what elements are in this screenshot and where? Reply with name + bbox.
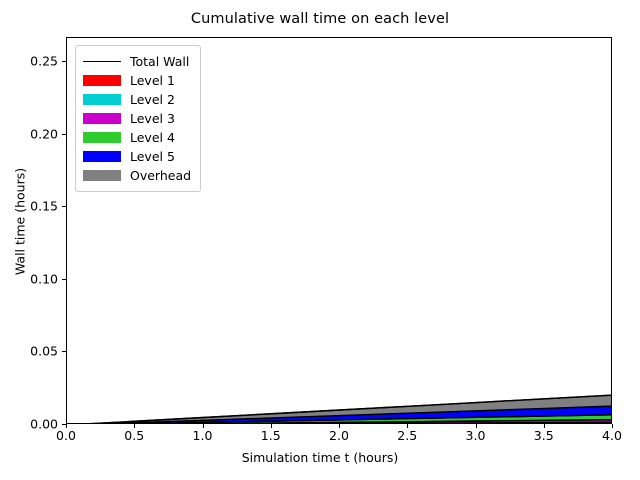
legend-item-label: Level 1 (130, 74, 175, 88)
legend-item-label: Level 3 (130, 112, 175, 126)
legend-color-swatch (83, 132, 121, 143)
legend-item-label: Level 2 (130, 93, 175, 107)
legend-item-level-2[interactable]: Level 2 (83, 90, 191, 109)
legend-item-label: Overhead (130, 169, 191, 183)
legend-item-level-4[interactable]: Level 4 (83, 128, 191, 147)
y-axis-tick-labels: 0.000.050.100.150.200.25 (0, 0, 58, 480)
x-tick-label: 3.5 (514, 429, 574, 443)
chart-title: Cumulative wall time on each level (0, 10, 640, 28)
legend-item-label: Level 5 (130, 150, 175, 164)
legend-item-level-5[interactable]: Level 5 (83, 147, 191, 166)
x-tick-label: 3.0 (446, 429, 506, 443)
legend-item-level-1[interactable]: Level 1 (83, 71, 191, 90)
x-tick-label: 4.0 (582, 429, 640, 443)
x-tick-label: 1.5 (241, 429, 301, 443)
x-tick-label: 0.0 (36, 429, 96, 443)
legend-color-swatch (83, 113, 121, 124)
x-axis-label: Simulation time t (hours) (0, 450, 640, 465)
legend-item-label: Total Wall (130, 55, 189, 69)
x-tick-label: 1.0 (173, 429, 233, 443)
legend-item-level-3[interactable]: Level 3 (83, 109, 191, 128)
x-tick-label: 2.5 (377, 429, 437, 443)
legend-item-total-wall[interactable]: Total Wall (83, 52, 191, 71)
legend-color-swatch (83, 75, 121, 86)
y-tick-label: 0.25 (6, 54, 58, 67)
x-axis-tick-labels: 0.00.51.01.52.02.53.03.54.0 (0, 429, 640, 449)
legend-line-marker (83, 56, 121, 67)
y-tick-label: 0.05 (6, 345, 58, 358)
legend-item-overhead[interactable]: Overhead (83, 166, 191, 185)
y-axis-label: Wall time (hours) (13, 122, 28, 322)
legend-color-swatch (83, 94, 121, 105)
chart-legend: Total WallLevel 1Level 2Level 3Level 4Le… (75, 45, 201, 192)
x-tick-label: 2.0 (309, 429, 369, 443)
legend-color-swatch (83, 151, 121, 162)
legend-item-label: Level 4 (130, 131, 175, 145)
legend-color-swatch (83, 170, 121, 181)
figure-canvas: Cumulative wall time on each level 0.000… (0, 0, 640, 480)
legend-line-glyph (83, 61, 121, 62)
x-tick-label: 0.5 (104, 429, 164, 443)
